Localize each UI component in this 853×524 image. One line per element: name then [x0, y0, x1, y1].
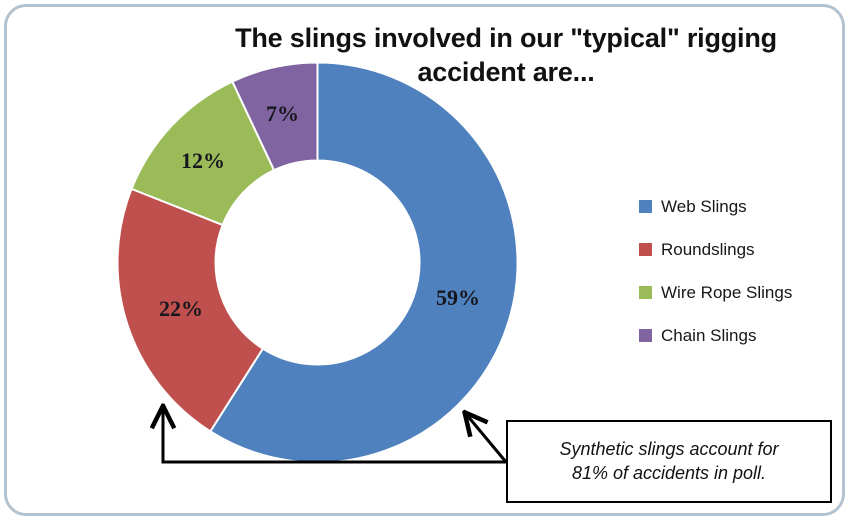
data-label-web-slings: 59% — [436, 285, 480, 311]
legend-swatch-icon-chain-slings — [639, 329, 652, 342]
legend-item-roundslings[interactable]: Roundslings — [639, 228, 839, 271]
data-label-chain-slings: 7% — [266, 101, 299, 127]
donut-chart — [110, 55, 525, 470]
legend-label-chain-slings: Chain Slings — [661, 326, 756, 346]
legend-swatch-icon-wire-rope-slings — [639, 286, 652, 299]
donut-slices — [117, 63, 517, 463]
annotation-callout-line-1: Synthetic slings account for — [559, 439, 778, 459]
legend-item-web-slings[interactable]: Web Slings — [639, 185, 839, 228]
donut-chart-svg — [110, 55, 525, 470]
legend-label-web-slings: Web Slings — [661, 197, 747, 217]
slide-canvas: The slings involved in our "typical" rig… — [0, 0, 853, 524]
data-label-roundslings: 22% — [159, 296, 203, 322]
legend-label-wire-rope-slings: Wire Rope Slings — [661, 283, 792, 303]
chart-legend: Web Slings Roundslings Wire Rope Slings … — [639, 185, 839, 357]
annotation-callout-line-2: 81% of accidents in poll. — [572, 463, 766, 483]
annotation-callout-text: Synthetic slings account for 81% of acci… — [545, 438, 792, 486]
legend-item-chain-slings[interactable]: Chain Slings — [639, 314, 839, 357]
legend-label-roundslings: Roundslings — [661, 240, 755, 260]
annotation-callout-box: Synthetic slings account for 81% of acci… — [506, 420, 832, 503]
legend-swatch-icon-web-slings — [639, 200, 652, 213]
legend-item-wire-rope-slings[interactable]: Wire Rope Slings — [639, 271, 839, 314]
data-label-wire-rope-slings: 12% — [181, 148, 225, 174]
legend-swatch-icon-roundslings — [639, 243, 652, 256]
